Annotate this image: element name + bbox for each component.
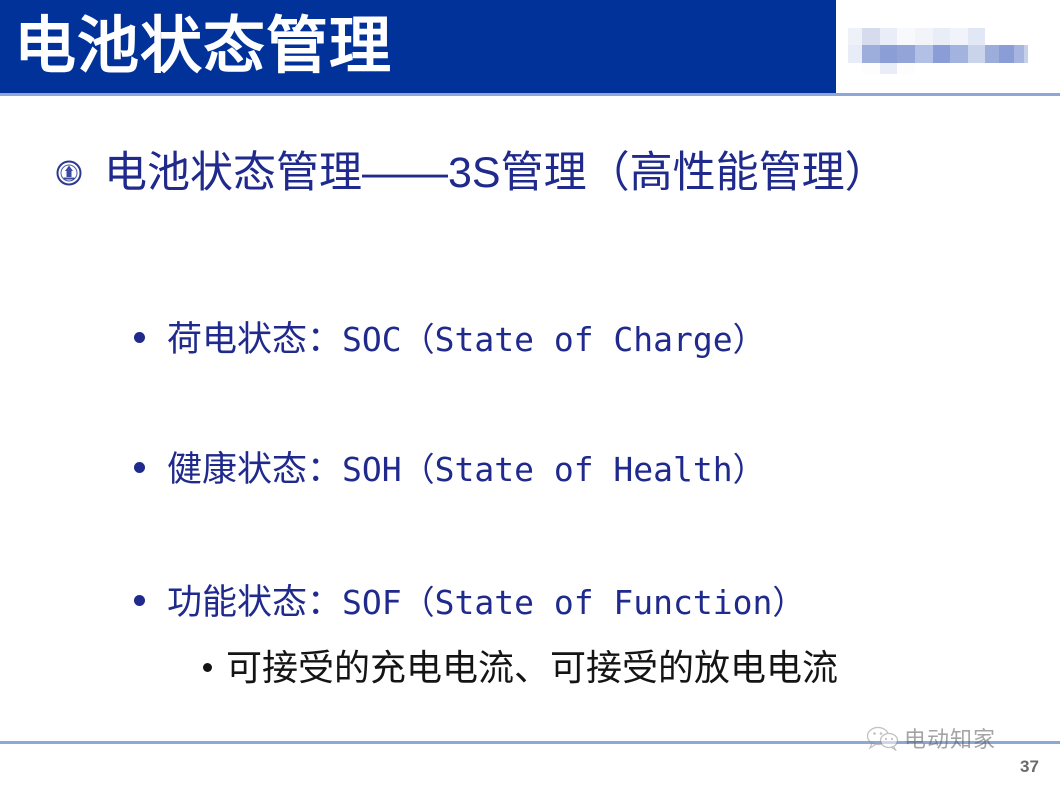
bullet-level2-label-cn: 健康状态：: [167, 449, 342, 491]
slide-canvas: 电池状态管理: [0, 0, 1060, 786]
bullet-level3-label: 可接受的充电电流、可接受的放电电流: [226, 646, 838, 690]
bullet-level1: 电池状态管理——3S管理（高性能管理）: [56, 148, 888, 198]
bullet-level2-soc: 荷电状态： SOC（State of Charge）: [134, 319, 766, 361]
header-logo-area: [836, 0, 1060, 93]
round-bullet-icon: [203, 663, 212, 672]
bullet-level2-label-en: SOF（State of Function）: [342, 582, 805, 624]
bullet-level2-soh: 健康状态： SOH（State of Health）: [134, 449, 766, 491]
round-bullet-icon: [134, 462, 145, 473]
round-bullet-icon: [134, 595, 145, 606]
bullet-level2-label-en: SOC（State of Charge）: [342, 319, 766, 361]
slide-body: 电池状态管理——3S管理（高性能管理） 荷电状态： SOC（State of C…: [0, 93, 1060, 741]
watermark: 电动知家: [866, 722, 996, 754]
page-title: 电池状态管理: [14, 5, 392, 89]
bullet-level1-label: 电池状态管理——3S管理（高性能管理）: [104, 148, 888, 198]
round-bullet-icon: [134, 332, 145, 343]
bullet-level2-sof: 功能状态： SOF（State of Function）: [134, 582, 805, 624]
watermark-label: 电动知家: [904, 722, 996, 754]
bullet-level3: 可接受的充电电流、可接受的放电电流: [203, 646, 838, 690]
bullet-level2-label-en: SOH（State of Health）: [342, 449, 766, 491]
bullet-level2-label-cn: 荷电状态：: [167, 319, 342, 361]
bullet-level2-label-cn: 功能状态：: [167, 582, 342, 624]
blurred-logo-icon: [848, 28, 1028, 74]
wechat-icon: [866, 725, 900, 751]
page-number: 37: [1020, 757, 1039, 777]
circular-emblem-icon: [56, 160, 82, 186]
